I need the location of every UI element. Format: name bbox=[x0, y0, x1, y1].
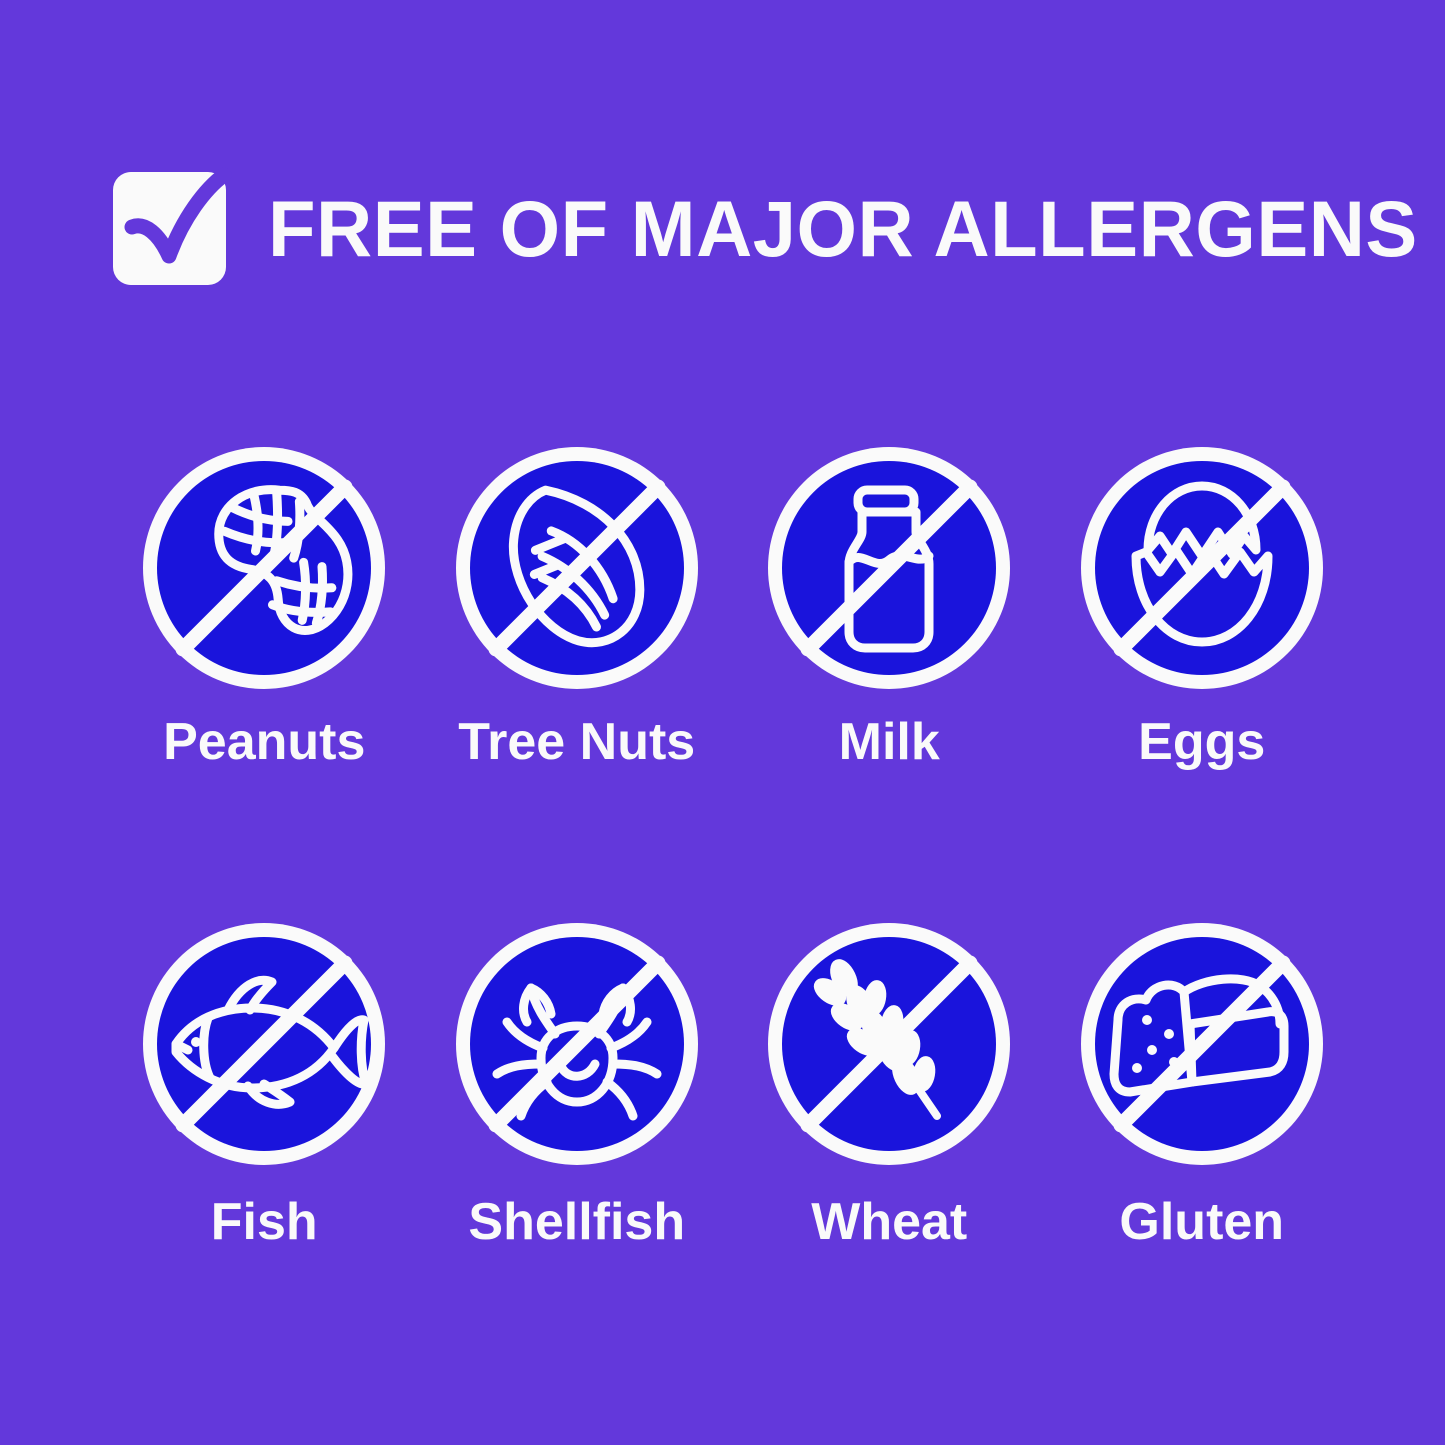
allergen-info-graphic: FREE OF MAJOR ALLERGENS bbox=[0, 0, 1445, 1445]
allergen-label: Peanuts bbox=[163, 714, 365, 771]
allergen-item-milk: Milk bbox=[733, 440, 1046, 771]
allergen-label: Gluten bbox=[1119, 1194, 1284, 1251]
allergen-label: Milk bbox=[839, 714, 940, 771]
allergen-item-eggs: Eggs bbox=[1046, 440, 1359, 771]
no-fish-icon bbox=[136, 916, 392, 1172]
allergen-grid: Peanuts bbox=[108, 440, 1358, 1251]
allergen-label: Eggs bbox=[1138, 714, 1265, 771]
no-shellfish-crab-icon bbox=[449, 916, 705, 1172]
allergen-item-tree-nuts: Tree Nuts bbox=[421, 440, 734, 771]
allergen-label: Wheat bbox=[811, 1194, 967, 1251]
allergen-label: Tree Nuts bbox=[458, 714, 695, 771]
no-wheat-icon bbox=[761, 916, 1017, 1172]
allergen-item-gluten: Gluten bbox=[1046, 916, 1359, 1251]
allergen-item-fish: Fish bbox=[108, 916, 421, 1251]
allergen-item-peanuts: Peanuts bbox=[108, 440, 421, 771]
allergen-label: Shellfish bbox=[468, 1194, 685, 1251]
allergen-label: Fish bbox=[211, 1194, 318, 1251]
no-egg-icon bbox=[1074, 440, 1330, 696]
no-milk-bottle-icon bbox=[761, 440, 1017, 696]
page-title: FREE OF MAJOR ALLERGENS bbox=[268, 189, 1418, 268]
allergen-item-shellfish: Shellfish bbox=[421, 916, 734, 1251]
header: FREE OF MAJOR ALLERGENS bbox=[113, 172, 1435, 285]
checkmark-box-icon bbox=[113, 172, 226, 285]
no-peanut-icon bbox=[136, 440, 392, 696]
no-tree-nut-icon bbox=[449, 440, 705, 696]
allergen-item-wheat: Wheat bbox=[733, 916, 1046, 1251]
no-gluten-bread-icon bbox=[1074, 916, 1330, 1172]
